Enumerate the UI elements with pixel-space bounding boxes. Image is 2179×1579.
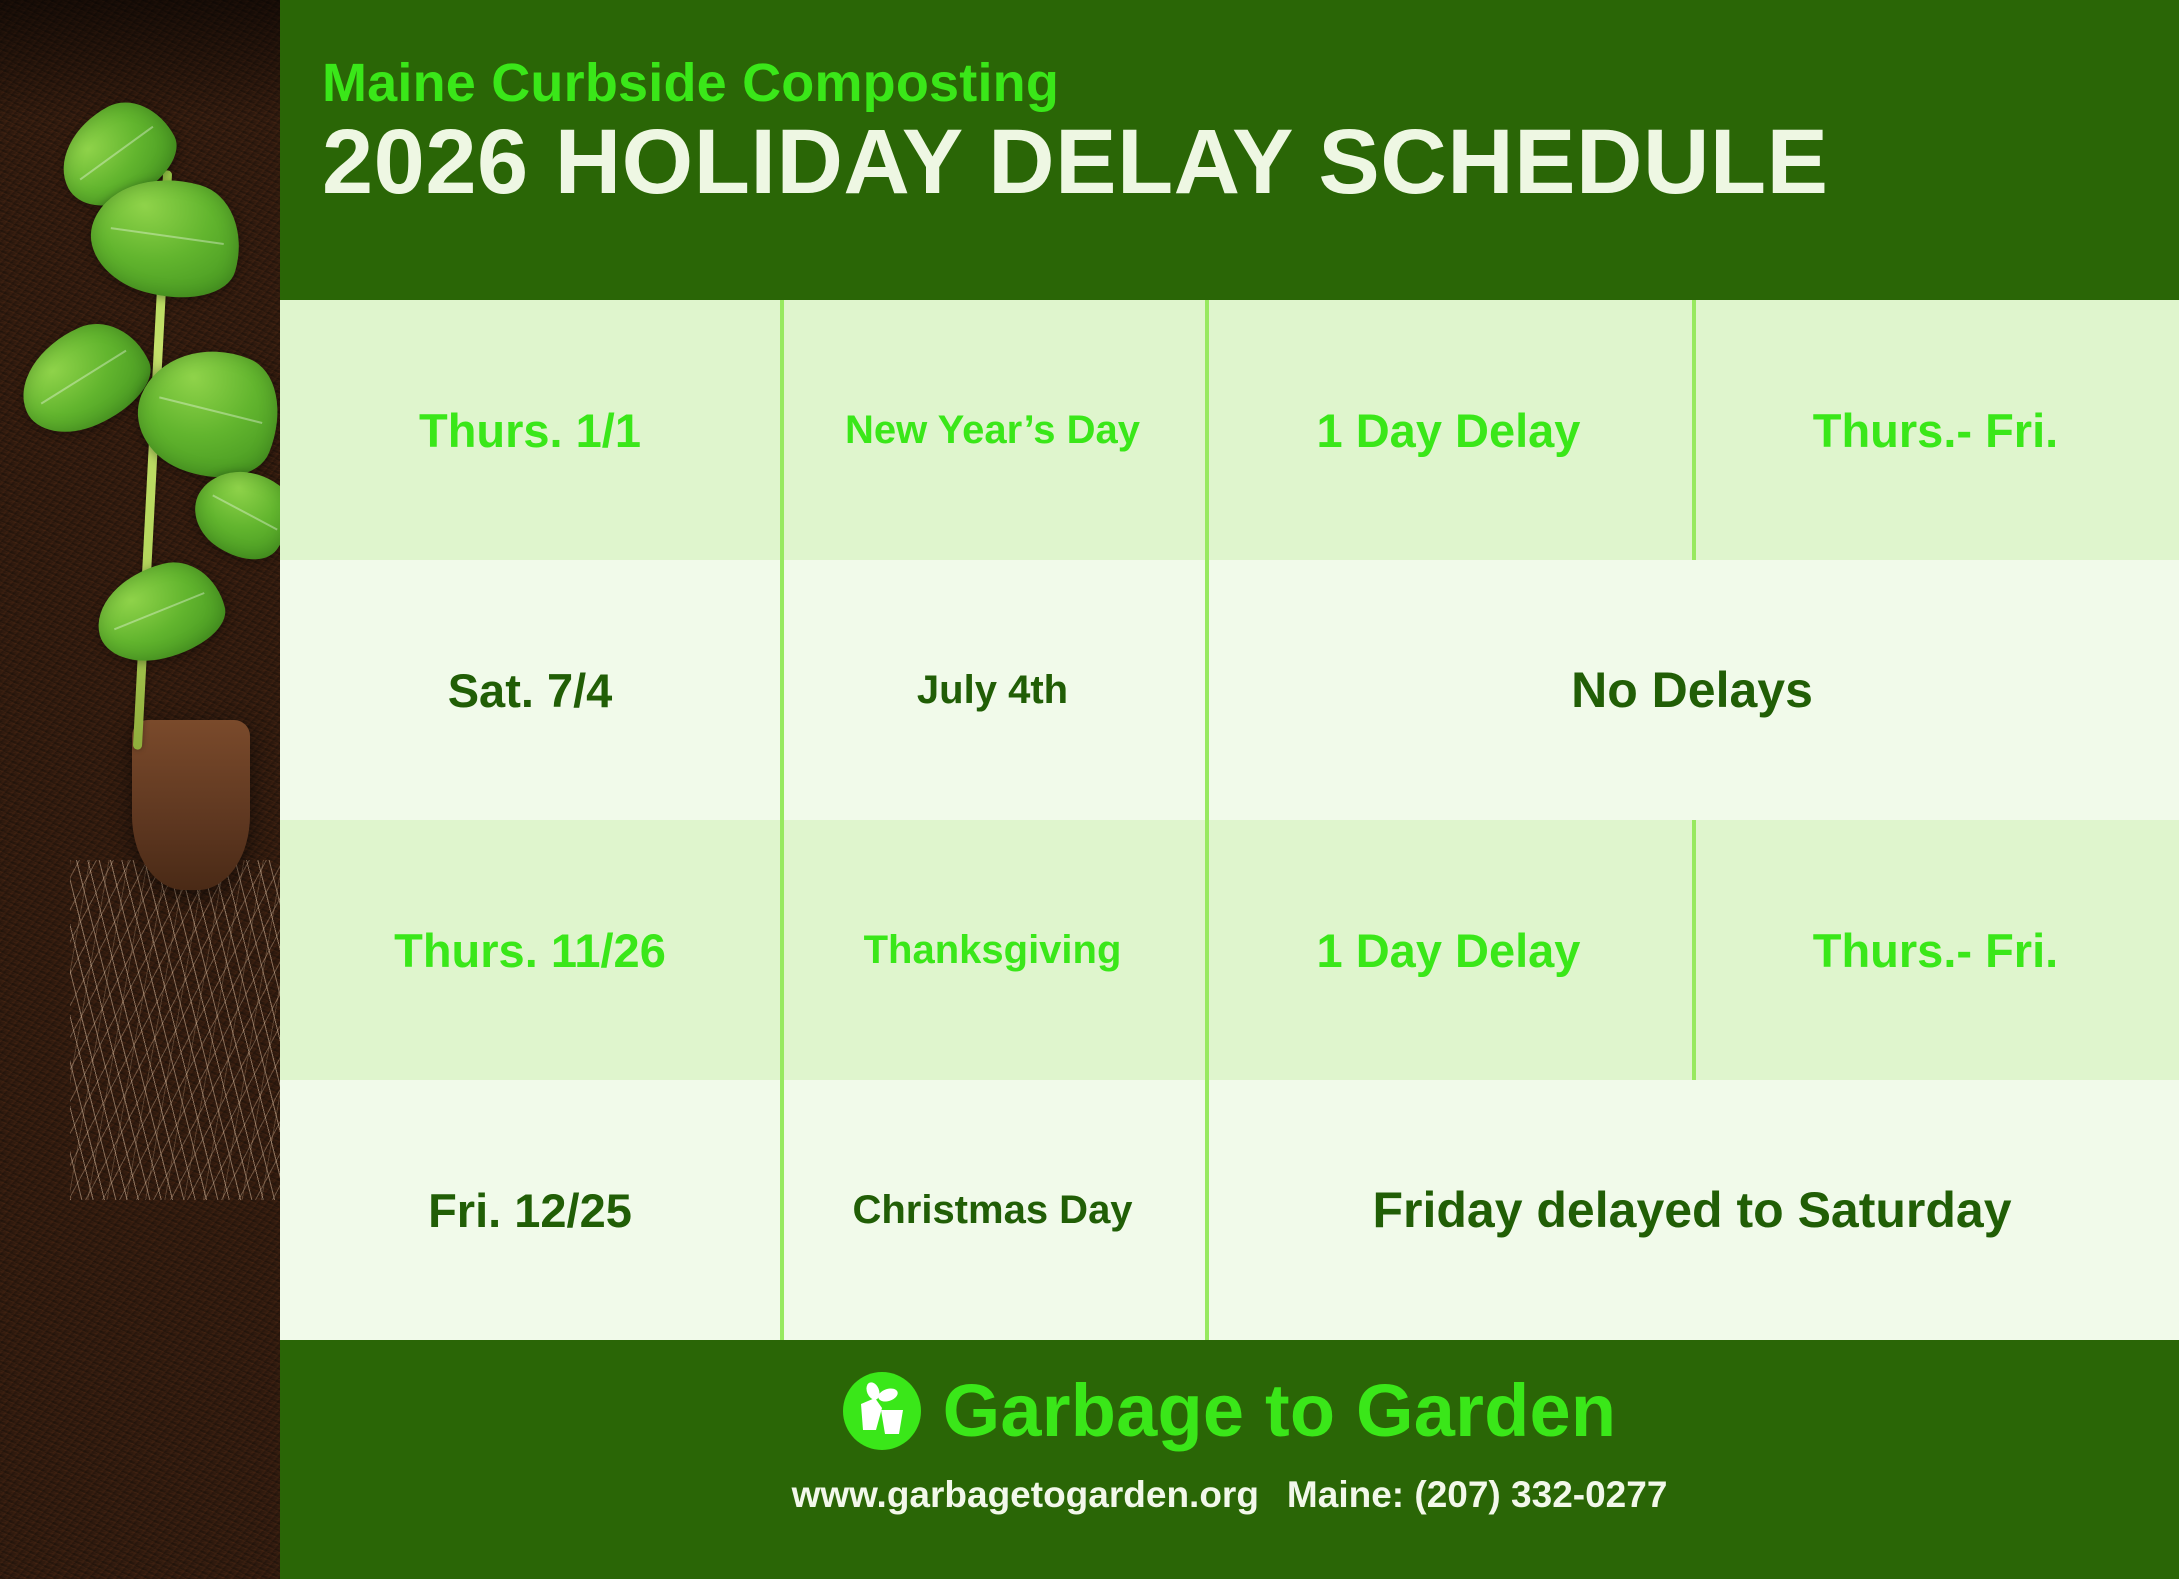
row-delay-span: Friday delayed to Saturday <box>1205 1080 2179 1340</box>
column-divider <box>1692 300 1696 560</box>
row-date: Fri. 12/25 <box>280 1080 780 1340</box>
column-divider <box>1205 560 1209 820</box>
row-holiday: Christmas Day <box>780 1080 1205 1340</box>
root-ball <box>132 720 250 890</box>
row-date: Thurs. 1/1 <box>280 300 780 560</box>
soil-top-shadow <box>0 0 280 120</box>
column-divider <box>780 1080 784 1340</box>
column-divider <box>780 820 784 1080</box>
brand-lockup: Garbage to Garden <box>280 1368 2179 1453</box>
row-delay-span: No Delays <box>1205 560 2179 820</box>
row-holiday: New Year’s Day <box>780 300 1205 560</box>
website-text: www.garbagetogarden.org <box>792 1474 1259 1515</box>
row-date: Sat. 7/4 <box>280 560 780 820</box>
poster-header: Maine Curbside Composting 2026 HOLIDAY D… <box>280 0 2179 300</box>
holiday-schedule-poster: Maine Curbside Composting 2026 HOLIDAY D… <box>0 0 2179 1579</box>
poster-footer: Garbage to Garden www.garbagetogarden.or… <box>280 1340 2179 1579</box>
table-row: Sat. 7/4 July 4th No Delays <box>280 560 2179 820</box>
row-days: Thurs.- Fri. <box>1692 300 2179 560</box>
root-system <box>70 860 280 1200</box>
page-title: 2026 HOLIDAY DELAY SCHEDULE <box>322 110 1828 215</box>
plant-in-pot-icon <box>843 1372 921 1450</box>
column-divider <box>1205 300 1209 560</box>
column-divider <box>1205 1080 1209 1340</box>
row-days: Thurs.- Fri. <box>1692 820 2179 1080</box>
row-date: Thurs. 11/26 <box>280 820 780 1080</box>
phone-text: Maine: (207) 332-0277 <box>1287 1474 1667 1515</box>
brand-name: Garbage to Garden <box>943 1368 1617 1453</box>
column-divider <box>780 300 784 560</box>
header-kicker: Maine Curbside Composting <box>322 52 1059 114</box>
row-delay: 1 Day Delay <box>1205 300 1692 560</box>
column-divider <box>1205 820 1209 1080</box>
holiday-schedule-table: Thurs. 1/1 New Year’s Day 1 Day Delay Th… <box>280 300 2179 1340</box>
contact-line: www.garbagetogarden.orgMaine: (207) 332-… <box>280 1474 2179 1516</box>
column-divider <box>780 560 784 820</box>
table-row: Thurs. 11/26 Thanksgiving 1 Day Delay Th… <box>280 820 2179 1080</box>
table-row: Fri. 12/25 Christmas Day Friday delayed … <box>280 1080 2179 1340</box>
row-holiday: July 4th <box>780 560 1205 820</box>
table-row: Thurs. 1/1 New Year’s Day 1 Day Delay Th… <box>280 300 2179 560</box>
row-delay: 1 Day Delay <box>1205 820 1692 1080</box>
row-holiday: Thanksgiving <box>780 820 1205 1080</box>
seedling-soil-photo <box>0 0 280 1579</box>
column-divider <box>1692 820 1696 1080</box>
